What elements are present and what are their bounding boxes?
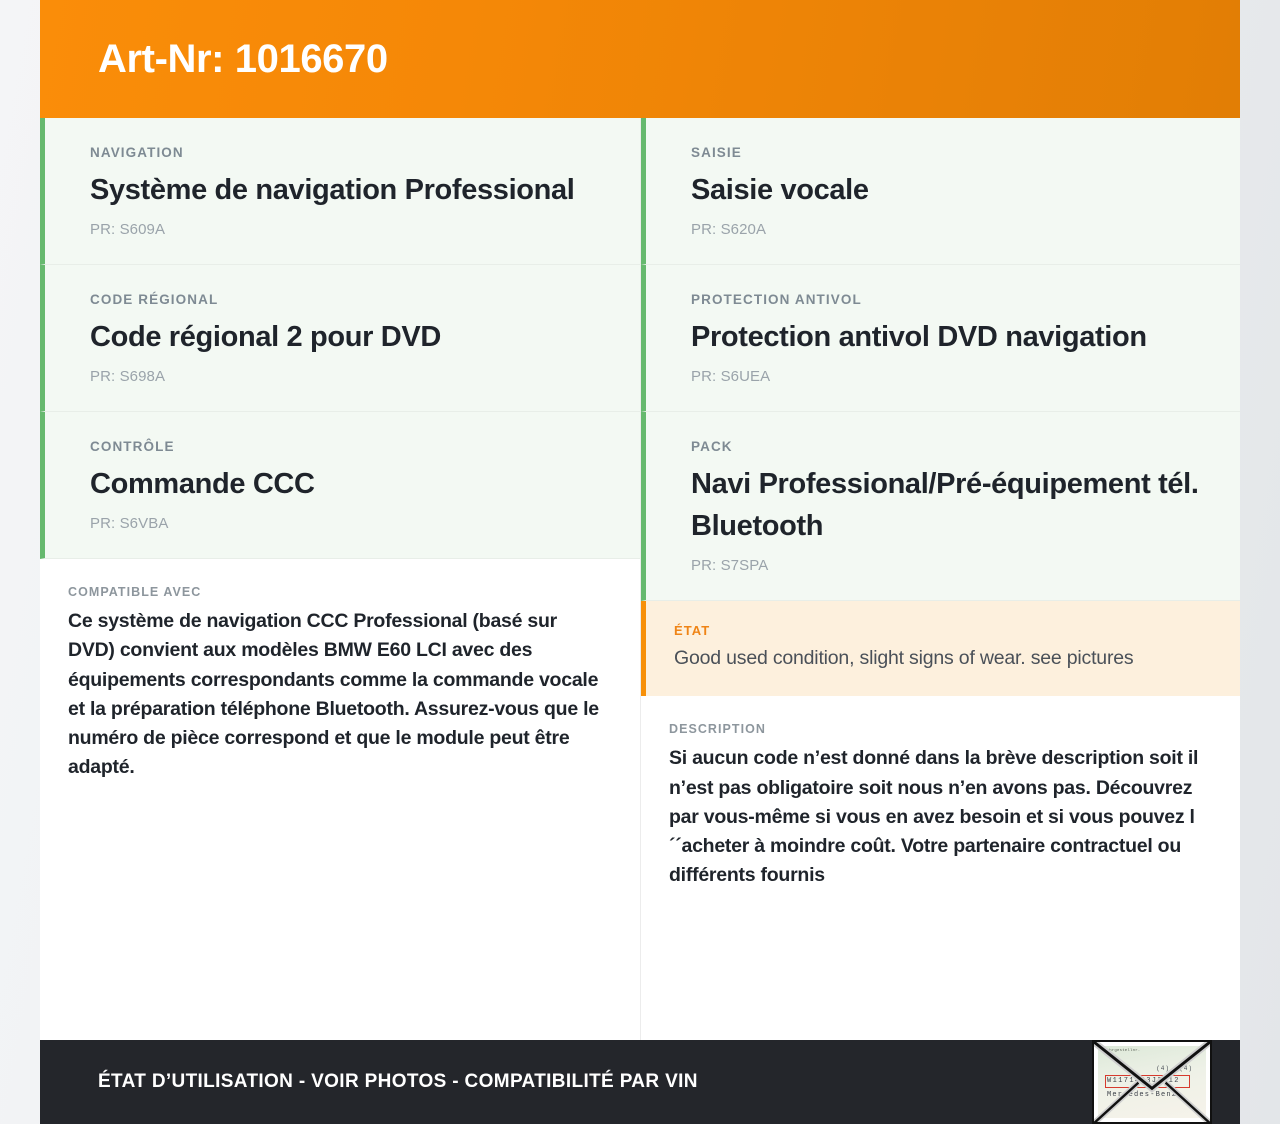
description-label: DESCRIPTION	[669, 722, 1200, 736]
document-heading-text: Fahrgestellnr.	[1104, 1049, 1140, 1053]
spec-card-label: SAISIE	[691, 145, 1210, 160]
description-section: DESCRIPTION Si aucun code n’est donné da…	[641, 696, 1240, 1040]
spec-card-pr-code: PR: S698A	[90, 368, 610, 385]
spec-card-label: CODE RÉGIONAL	[90, 292, 610, 307]
spec-card-pack: PACK Navi Professional/Pré-équipement té…	[641, 412, 1240, 601]
spec-card-title: Code régional 2 pour DVD	[90, 316, 610, 358]
spec-card-label: NAVIGATION	[90, 145, 610, 160]
condition-body: Good used condition, slight signs of wea…	[674, 645, 1210, 672]
description-body: Si aucun code n’est donné dans la brève …	[669, 744, 1200, 890]
vehicle-document-thumbnail: Fahrgestellnr. (4) A(4) W1171463J3112 Me…	[1098, 1046, 1206, 1118]
spec-card-saisie: SAISIE Saisie vocale PR: S620A	[641, 118, 1240, 265]
spec-card-pr-code: PR: S6VBA	[90, 515, 610, 532]
compatibility-label: COMPATIBLE AVEC	[68, 585, 600, 599]
compatibility-section: COMPATIBLE AVEC Ce système de navigation…	[40, 559, 640, 1040]
compatibility-body: Ce système de navigation CCC Professiona…	[68, 607, 600, 783]
spec-card-controle: CONTRÔLE Commande CCC PR: S6VBA	[40, 412, 640, 559]
condition-callout: ÉTAT Good used condition, slight signs o…	[641, 601, 1240, 696]
content-columns: NAVIGATION Système de navigation Profess…	[40, 118, 1240, 1040]
spec-card-pr-code: PR: S620A	[691, 221, 1210, 238]
footer-banner-text: ÉTAT D’UTILISATION - VOIR PHOTOS - COMPA…	[98, 1071, 698, 1093]
vin-text: W1171463J3112	[1107, 1077, 1180, 1085]
vehicle-brand-text: Mercedes-Benz	[1107, 1091, 1177, 1099]
spec-card-pr-code: PR: S6UEA	[691, 368, 1210, 385]
spec-card-title: Navi Professional/Pré-équipement tél. Bl…	[691, 463, 1210, 547]
condition-label: ÉTAT	[674, 623, 1210, 638]
spec-card-label: CONTRÔLE	[90, 439, 610, 454]
page-footer: ÉTAT D’UTILISATION - VOIR PHOTOS - COMPA…	[40, 1040, 1240, 1124]
spec-card-pr-code: PR: S7SPA	[691, 557, 1210, 574]
spec-card-code-regional: CODE RÉGIONAL Code régional 2 pour DVD P…	[40, 265, 640, 412]
spec-card-label: PACK	[691, 439, 1210, 454]
spec-card-title: Commande CCC	[90, 463, 610, 505]
spec-card-pr-code: PR: S609A	[90, 221, 610, 238]
spec-card-title: Protection antivol DVD navigation	[691, 316, 1210, 358]
envelope-icon: Fahrgestellnr. (4) A(4) W1171463J3112 Me…	[1092, 1040, 1212, 1124]
page-header: Art-Nr: 1016670	[40, 0, 1240, 118]
article-number-title: Art-Nr: 1016670	[98, 39, 388, 79]
product-spec-sheet: Art-Nr: 1016670 NAVIGATION Système de na…	[40, 0, 1240, 1124]
spec-card-label: PROTECTION ANTIVOL	[691, 292, 1210, 307]
spec-card-title: Saisie vocale	[691, 169, 1210, 211]
spec-card-title: Système de navigation Professional	[90, 169, 610, 211]
document-code-text: (4) A(4)	[1156, 1065, 1193, 1072]
right-column: SAISIE Saisie vocale PR: S620A PROTECTIO…	[640, 118, 1240, 1040]
spec-card-navigation: NAVIGATION Système de navigation Profess…	[40, 118, 640, 265]
left-column: NAVIGATION Système de navigation Profess…	[40, 118, 640, 1040]
spec-card-protection-antivol: PROTECTION ANTIVOL Protection antivol DV…	[641, 265, 1240, 412]
